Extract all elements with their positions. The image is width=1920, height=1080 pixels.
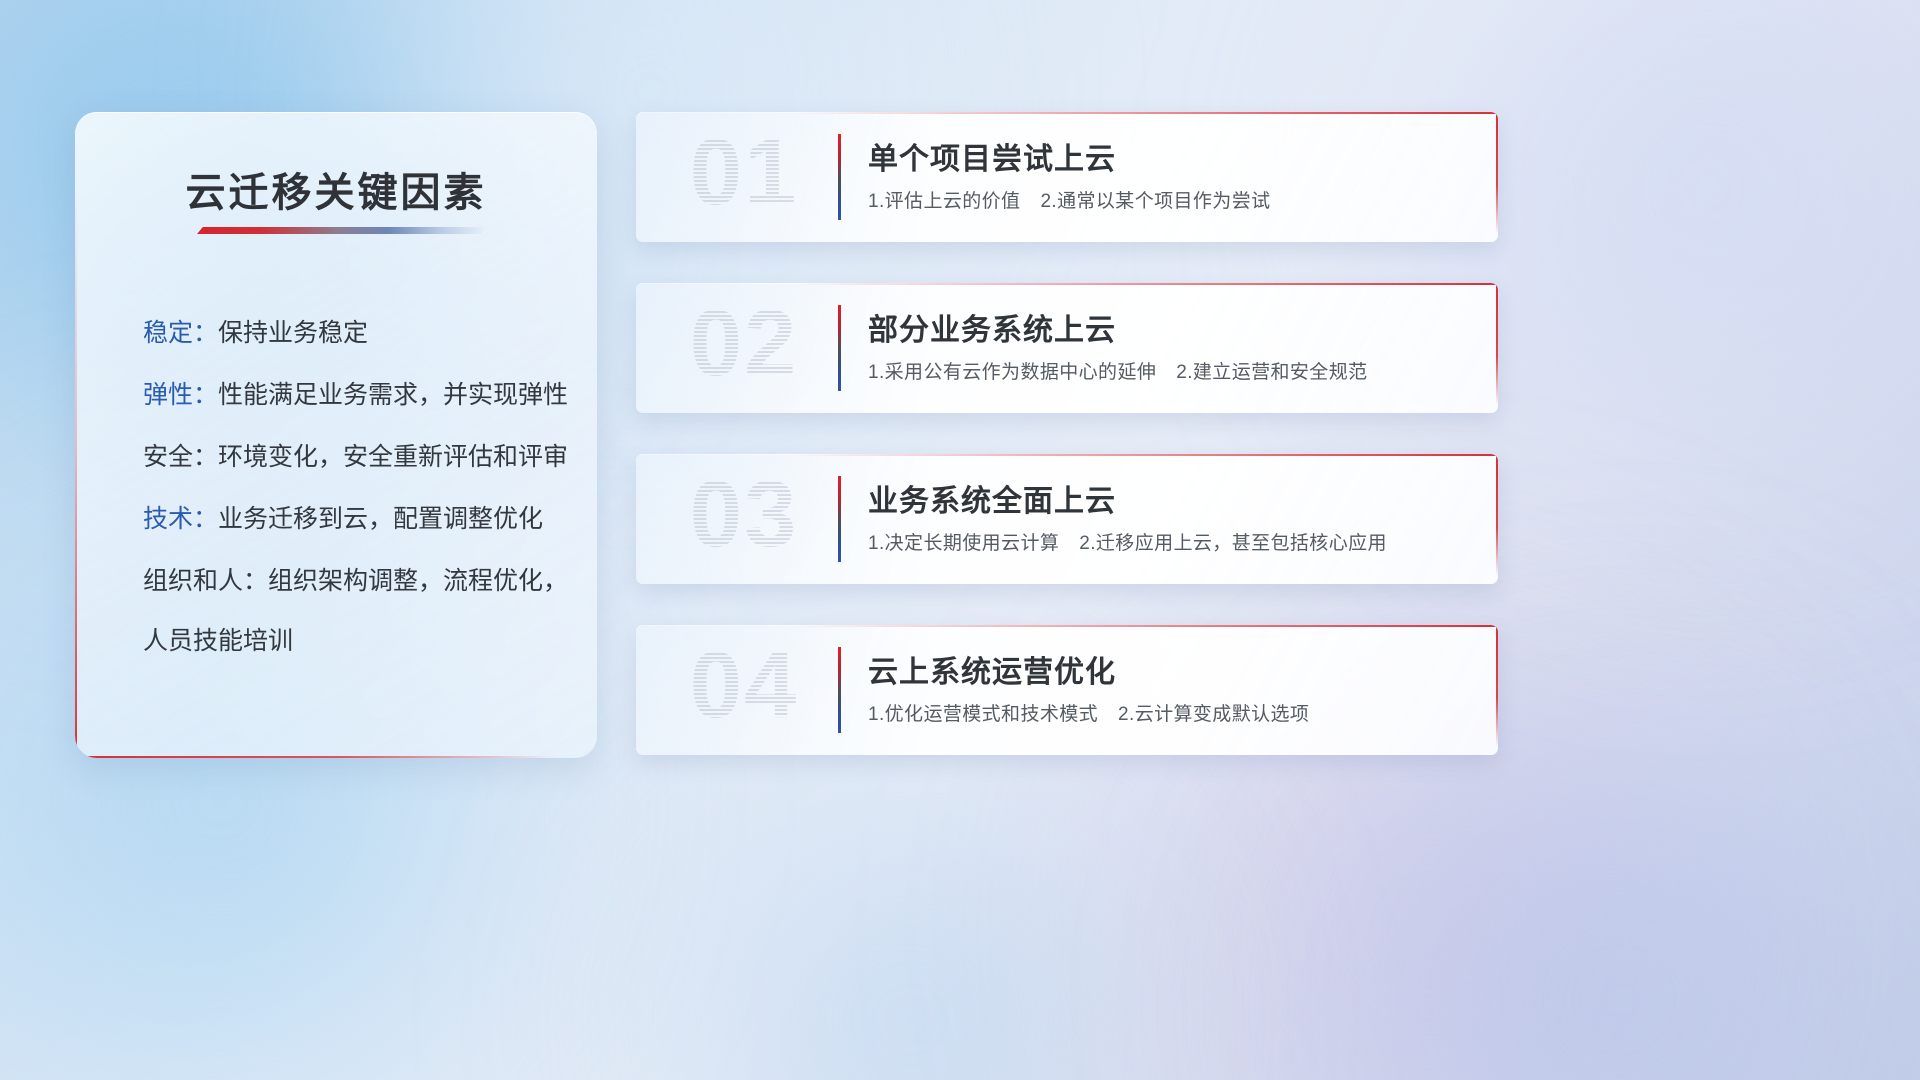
factor-text-technology: 业务迁移到云，配置调整优化 bbox=[218, 505, 543, 533]
card-divider-bar bbox=[838, 476, 841, 562]
factor-text-elasticity: 性能满足业务需求，并实现弹性 bbox=[218, 381, 568, 409]
stage-desc-part-a-03: 1.决定长期使用云计算 bbox=[868, 533, 1059, 554]
title-underline-gradient bbox=[197, 227, 487, 234]
stage-desc-part-b-01: 2.通常以某个项目作为尝试 bbox=[1040, 191, 1270, 212]
factor-list: 稳定：保持业务稳定 弹性：性能满足业务需求，并实现弹性 安全：环境变化，安全重新… bbox=[143, 302, 563, 670]
stage-desc-part-a-01: 1.评估上云的价值 bbox=[868, 191, 1020, 212]
stage-card-04[interactable]: 04 云上系统运营优化 1.优化运营模式和技术模式2.云计算变成默认选项 bbox=[636, 625, 1498, 755]
stage-description-04: 1.优化运营模式和技术模式2.云计算变成默认选项 bbox=[868, 699, 1309, 726]
panel-left-accent-border bbox=[75, 190, 77, 758]
stage-number-01: 01 bbox=[664, 112, 824, 236]
factor-label-organization: 组织和人： bbox=[143, 567, 268, 595]
stage-card-03[interactable]: 03 业务系统全面上云 1.决定长期使用云计算2.迁移应用上云，甚至包括核心应用 bbox=[636, 454, 1498, 584]
stage-desc-part-a-04: 1.优化运营模式和技术模式 bbox=[868, 704, 1098, 725]
card-divider-bar bbox=[838, 305, 841, 391]
panel-top-highlight bbox=[106, 112, 565, 113]
stage-description-02: 1.采用公有云作为数据中心的延伸2.建立运营和安全规范 bbox=[868, 357, 1368, 384]
stage-desc-part-a-02: 1.采用公有云作为数据中心的延伸 bbox=[868, 362, 1156, 383]
page-title: 云迁移关键因素 bbox=[75, 160, 597, 218]
stage-description-01: 1.评估上云的价值2.通常以某个项目作为尝试 bbox=[868, 186, 1271, 213]
stage-number-04: 04 bbox=[664, 625, 824, 749]
factor-item-elasticity: 弹性：性能满足业务需求，并实现弹性 bbox=[143, 364, 563, 426]
factor-item-stability: 稳定：保持业务稳定 bbox=[143, 302, 563, 364]
card-top-accent-border bbox=[791, 112, 1498, 114]
factor-label-stability: 稳定： bbox=[143, 319, 218, 347]
stage-title-03: 业务系统全面上云 bbox=[868, 476, 1116, 520]
factor-text-organization: 组织架构调整，流程优化， bbox=[268, 567, 568, 595]
factor-label-technology: 技术： bbox=[143, 505, 218, 533]
card-top-accent-border bbox=[791, 454, 1498, 456]
stage-number-03: 03 bbox=[664, 454, 824, 578]
card-right-accent-border bbox=[1496, 625, 1498, 747]
stage-card-01[interactable]: 01 单个项目尝试上云 1.评估上云的价值2.通常以某个项目作为尝试 bbox=[636, 112, 1498, 242]
card-right-accent-border bbox=[1496, 112, 1498, 234]
factor-item-organization: 组织和人：组织架构调整，流程优化， bbox=[143, 550, 563, 612]
card-right-accent-border bbox=[1496, 454, 1498, 576]
factor-item-organization-continued: 人员技能培训 bbox=[143, 612, 563, 670]
stage-title-04: 云上系统运营优化 bbox=[868, 647, 1116, 691]
key-factors-panel: 云迁移关键因素 稳定：保持业务稳定 弹性：性能满足业务需求，并实现弹性 安全：环… bbox=[75, 112, 597, 758]
stage-description-03: 1.决定长期使用云计算2.迁移应用上云，甚至包括核心应用 bbox=[868, 528, 1387, 555]
factor-text-security: 环境变化，安全重新评估和评审 bbox=[218, 443, 568, 471]
stage-card-02[interactable]: 02 部分业务系统上云 1.采用公有云作为数据中心的延伸2.建立运营和安全规范 bbox=[636, 283, 1498, 413]
stage-title-02: 部分业务系统上云 bbox=[868, 305, 1116, 349]
stage-desc-part-b-04: 2.云计算变成默认选项 bbox=[1118, 704, 1309, 725]
card-right-accent-border bbox=[1496, 283, 1498, 405]
card-top-accent-border bbox=[791, 283, 1498, 285]
stage-desc-part-b-02: 2.建立运营和安全规范 bbox=[1176, 362, 1367, 383]
factor-text-stability: 保持业务稳定 bbox=[218, 319, 368, 347]
stage-title-01: 单个项目尝试上云 bbox=[868, 134, 1116, 178]
panel-bottom-accent-border bbox=[75, 756, 555, 758]
stage-number-02: 02 bbox=[664, 283, 824, 407]
stage-desc-part-b-03: 2.迁移应用上云，甚至包括核心应用 bbox=[1079, 533, 1387, 554]
factor-label-elasticity: 弹性： bbox=[143, 381, 218, 409]
card-divider-bar bbox=[838, 134, 841, 220]
card-divider-bar bbox=[838, 647, 841, 733]
card-top-accent-border bbox=[791, 625, 1498, 627]
factor-item-technology: 技术：业务迁移到云，配置调整优化 bbox=[143, 488, 563, 550]
factor-label-security: 安全： bbox=[143, 443, 218, 471]
factor-item-security: 安全：环境变化，安全重新评估和评审 bbox=[143, 426, 563, 488]
